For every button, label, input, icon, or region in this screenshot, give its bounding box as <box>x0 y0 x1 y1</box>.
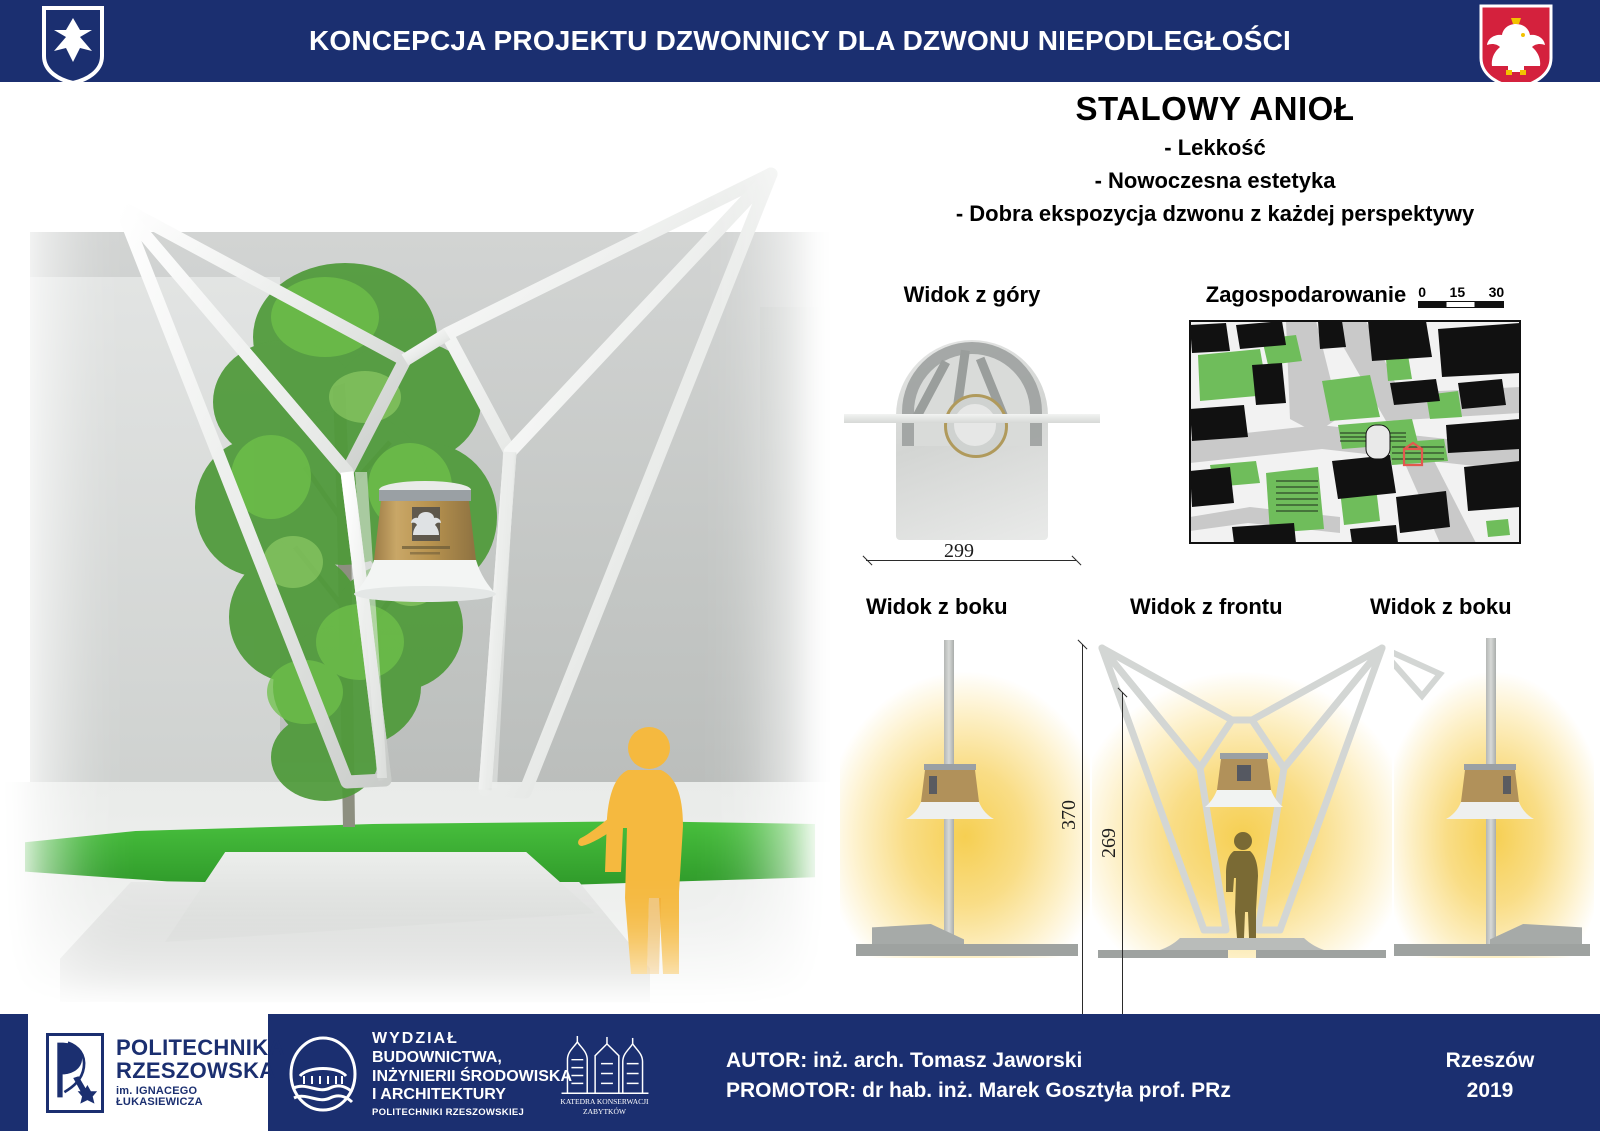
university-line-3: im. IGNACEGO ŁUKASIEWICZA <box>116 1086 285 1109</box>
top-view-beam <box>844 414 1100 423</box>
concept-block: STALOWY ANIOŁ - Lekkość - Nowoczesna est… <box>830 90 1600 227</box>
elevation-dimensions: 370 269 422 68 177 <box>830 622 1600 1014</box>
dim-269-line <box>1122 692 1123 1022</box>
university-name: POLITECHNIKA RZESZOWSKA im. IGNACEGO ŁUK… <box>116 1037 285 1109</box>
render-bell <box>350 474 500 604</box>
right-column: STALOWY ANIOŁ - Lekkość - Nowoczesna est… <box>830 82 1600 1014</box>
rzeszow-coat-of-arms-icon <box>42 6 104 84</box>
credits-block: AUTOR: inż. arch. Tomasz Jaworski PROMOT… <box>726 1046 1231 1107</box>
historic-buildings-icon <box>557 1034 653 1095</box>
dim-370-line <box>1082 644 1083 1022</box>
prz-monogram-icon <box>46 1033 104 1113</box>
elevation-label-right: Widok z boku <box>1370 594 1512 620</box>
faculty-line-2: BUDOWNICTWA, <box>372 1049 572 1068</box>
scale-tick-30: 30 <box>1489 285 1505 299</box>
page-title: KONCEPCJA PROJEKTU DZWONNICY DLA DZWONU … <box>150 0 1450 82</box>
dim-269-value: 269 <box>1098 828 1121 858</box>
faculty-line-4: I ARCHITEKTURY <box>372 1086 572 1105</box>
dim-370-value: 370 <box>1058 800 1081 830</box>
site-plan-header: Zagospodarowanie 0 15 30 <box>1130 282 1580 308</box>
polish-eagle-coat-of-arms-icon <box>1478 4 1554 90</box>
faculty-emblem-icon <box>288 1036 358 1112</box>
promoter-line: PROMOTOR: dr hab. inż. Marek Gosztyła pr… <box>726 1076 1231 1106</box>
scale-bar-graphic <box>1418 301 1504 308</box>
department-line-1: KATEDRA KONSERWACJI <box>560 1097 648 1106</box>
faculty-line-3: INŻYNIERII ŚRODOWISKA <box>372 1068 572 1087</box>
scale-tick-0: 0 <box>1418 285 1426 299</box>
department-name: KATEDRA KONSERWACJI ZABYTKÓW <box>560 1097 648 1116</box>
university-line-2: RZESZOWSKA <box>116 1060 285 1083</box>
page-footer: POLITECHNIKA RZESZOWSKA im. IGNACEGO ŁUK… <box>0 1014 1600 1131</box>
year-label: 2019 <box>1400 1076 1580 1106</box>
university-line-1: POLITECHNIKA <box>116 1037 285 1060</box>
city-label: Rzeszów <box>1400 1046 1580 1076</box>
top-view-block: Widok z góry 299 <box>852 282 1092 578</box>
page-header: KONCEPCJA PROJEKTU DZWONNICY DLA DZWONU … <box>0 0 1600 82</box>
concept-bullet-3: - Dobra ekspozycja dzwonu z każdej persp… <box>830 201 1600 227</box>
concept-title: STALOWY ANIOŁ <box>830 90 1600 128</box>
top-view-drawing <box>888 322 1056 540</box>
place-and-year: Rzeszów 2019 <box>1400 1046 1580 1107</box>
university-logo: POLITECHNIKA RZESZOWSKA im. IGNACEGO ŁUK… <box>46 1032 272 1114</box>
faculty-line-5: POLITECHNIKI RZESZOWSKIEJ <box>372 1107 572 1118</box>
elevation-label-front: Widok z frontu <box>1130 594 1283 620</box>
concept-bullet-1: - Lekkość <box>830 135 1600 161</box>
scale-tick-15: 15 <box>1450 285 1466 299</box>
board-body: STALOWY ANIOŁ - Lekkość - Nowoczesna est… <box>0 82 1600 1014</box>
top-view-dimension-value: 299 <box>944 540 974 563</box>
author-line: AUTOR: inż. arch. Tomasz Jaworski <box>726 1046 1231 1076</box>
site-plan-label: Zagospodarowanie <box>1206 282 1406 308</box>
render-human-scale-figure <box>565 722 715 982</box>
top-view-dimension: 299 <box>852 544 1092 578</box>
site-plan-scale-bar: 0 15 30 <box>1418 285 1504 308</box>
faculty-logo: WYDZIAŁ BUDOWNICTWA, INŻYNIERII ŚRODOWIS… <box>288 1034 572 1114</box>
concept-bullet-2: - Nowoczesna estetyka <box>830 168 1600 194</box>
top-view-label: Widok z góry <box>852 282 1092 308</box>
elevation-label-left: Widok z boku <box>866 594 1008 620</box>
department-line-2: ZABYTKÓW <box>560 1107 648 1116</box>
site-plan-block: Zagospodarowanie 0 15 30 <box>1130 282 1580 544</box>
faculty-name: WYDZIAŁ BUDOWNICTWA, INŻYNIERII ŚRODOWIS… <box>372 1030 572 1117</box>
site-plan-map <box>1189 320 1521 544</box>
department-logo: KATEDRA KONSERWACJI ZABYTKÓW <box>552 1034 657 1116</box>
main-visualization <box>0 82 830 1014</box>
top-view-bell-inner <box>952 402 998 448</box>
faculty-line-1: WYDZIAŁ <box>372 1030 572 1049</box>
